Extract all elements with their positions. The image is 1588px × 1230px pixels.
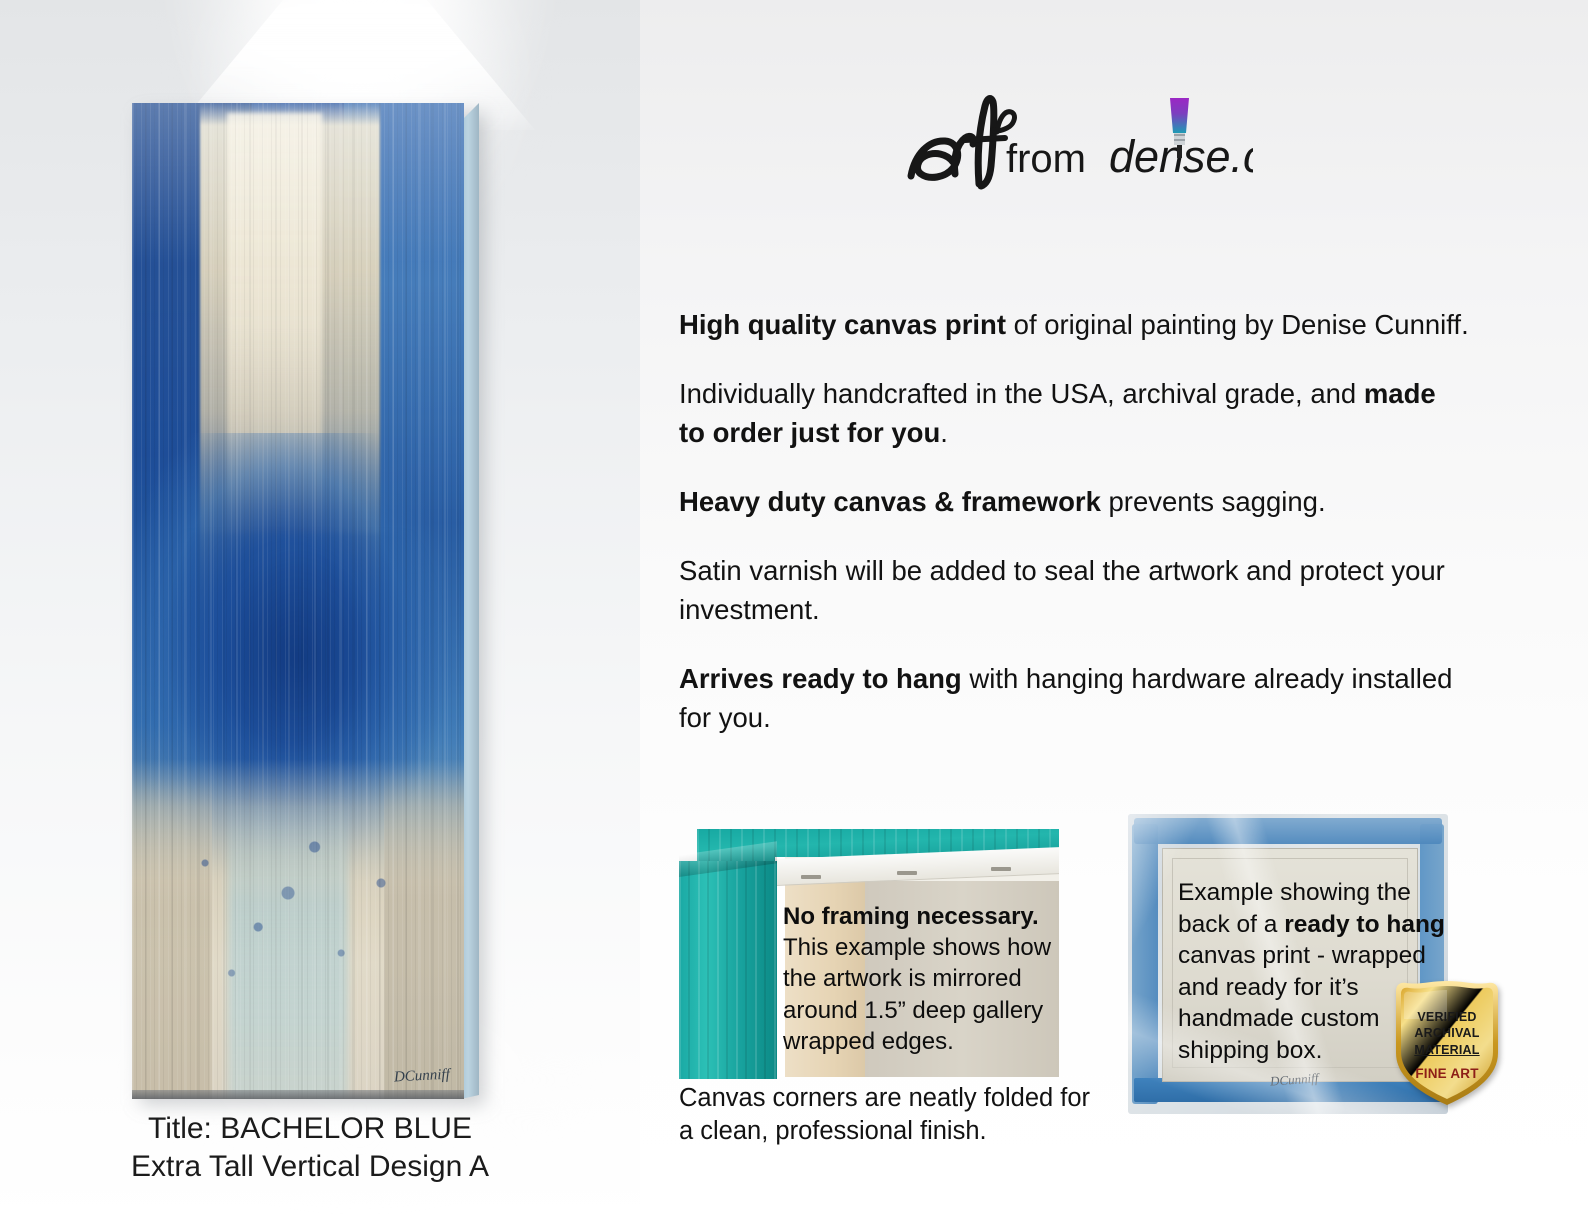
- copy-rest-1: of original painting by Denise Cunniff.: [1006, 309, 1469, 340]
- verified-archival-badge: VERIFIED ARCHIVAL MATERIAL FINE ART: [1390, 979, 1504, 1107]
- svg-text:se.com: se.com: [1183, 131, 1253, 182]
- gallery-wrapped-side: [679, 861, 777, 1079]
- photo-left-overlay-body: This example shows how the artwork is mi…: [783, 934, 1051, 1055]
- copy-bold-5: Arrives ready to hang: [679, 663, 962, 694]
- copy-tail-2: .: [940, 417, 948, 448]
- badge-text: VERIFIED ARCHIVAL MATERIAL FINE ART: [1390, 1009, 1504, 1082]
- photo-left-overlay-text: No framing necessary. This example shows…: [783, 901, 1059, 1057]
- copy-bold-1: High quality canvas print: [679, 309, 1006, 340]
- svg-text:from: from: [1006, 137, 1086, 181]
- product-description: High quality canvas print of original pa…: [679, 305, 1469, 737]
- artwork-title: Title: BACHELOR BLUE: [0, 1110, 620, 1148]
- svg-text:den: den: [1109, 131, 1184, 182]
- canvas-bottom-edge: [132, 1090, 464, 1099]
- copy-paragraph-3: Heavy duty canvas & framework prevents s…: [679, 482, 1469, 521]
- photo-right-tail: canvas print - wrapped and ready for it’…: [1178, 942, 1426, 1064]
- artwork-caption: Title: BACHELOR BLUE Extra Tall Vertical…: [0, 1110, 620, 1187]
- copy-lead-4: Satin varnish will be added to seal the …: [679, 555, 1445, 625]
- paint-spatter-texture: [132, 803, 464, 1003]
- copy-rest-3: prevents sagging.: [1101, 486, 1326, 517]
- badge-line-4: FINE ART: [1390, 1065, 1504, 1083]
- blue-edge-top: [1134, 818, 1442, 844]
- copy-lead-2: Individually handcrafted in the USA, arc…: [679, 378, 1364, 409]
- artist-signature-back: DCunniff: [1270, 1070, 1319, 1089]
- staple-icon: [801, 875, 821, 879]
- artwork-subtitle: Extra Tall Vertical Design A: [0, 1148, 620, 1186]
- copy-paragraph-4: Satin varnish will be added to seal the …: [679, 551, 1469, 629]
- photo-right-bold: ready to hang: [1284, 911, 1445, 938]
- badge-line-3: MATERIAL: [1390, 1042, 1504, 1058]
- artist-signature: DCunniff: [394, 1067, 451, 1087]
- copy-paragraph-2: Individually handcrafted in the USA, arc…: [679, 374, 1469, 452]
- staple-icon: [991, 867, 1011, 871]
- photo-left-caption: Canvas corners are neatly folded for a c…: [679, 1082, 1099, 1148]
- canvas-artwork[interactable]: DCunniff: [132, 103, 479, 1099]
- copy-paragraph-5: Arrives ready to hang with hanging hardw…: [679, 659, 1469, 737]
- brand-logo[interactable]: from den se.com: [893, 88, 1253, 198]
- badge-line-2: ARCHIVAL: [1390, 1025, 1504, 1041]
- copy-paragraph-1: High quality canvas print of original pa…: [679, 305, 1469, 344]
- photo-left-overlay-bold: No framing necessary.: [783, 903, 1039, 930]
- canvas-painting-face: DCunniff: [132, 103, 464, 1099]
- blue-edge-left: [1132, 824, 1158, 1104]
- badge-line-1: VERIFIED: [1390, 1009, 1504, 1025]
- staple-icon: [897, 871, 917, 875]
- copy-bold-3: Heavy duty canvas & framework: [679, 486, 1101, 517]
- photo-canvas-corner[interactable]: No framing necessary. This example shows…: [679, 829, 1059, 1079]
